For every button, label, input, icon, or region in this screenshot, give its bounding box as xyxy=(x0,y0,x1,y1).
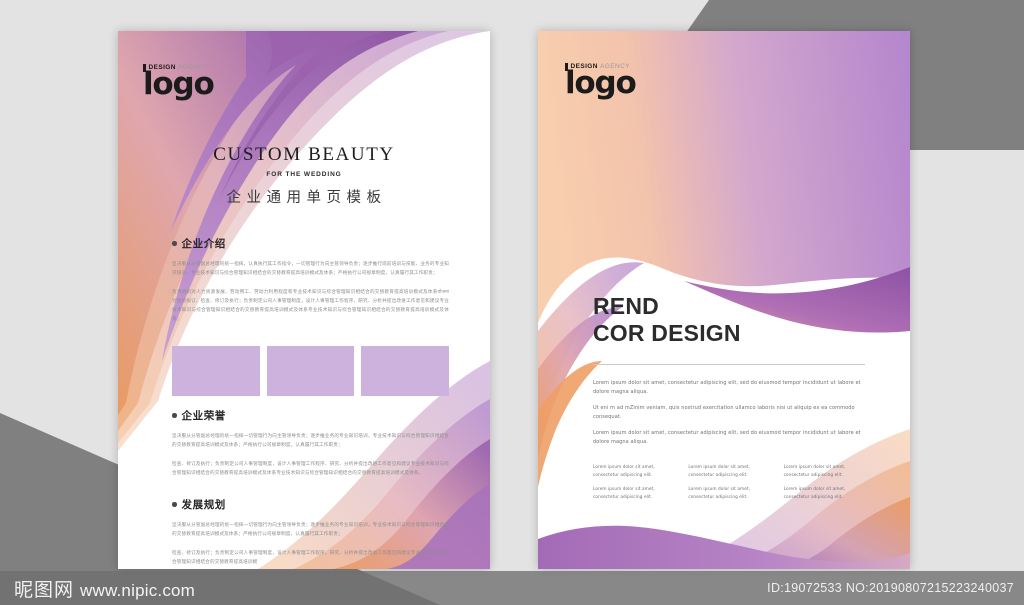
section-company-honors: 企业荣誉 坚决服从分管副总经理的统一指挥一切管理行为向主管领导负责；逐步推业务的… xyxy=(172,408,449,487)
brochure-page-right: DESIGN AGENCY logo REND COR DESIGN Lorem… xyxy=(538,31,910,569)
watermark-site-url: www.nipic.com xyxy=(80,581,195,601)
left-page-content: CUSTOM BEAUTY FOR THE WEDDING 企业通用单页模板 企… xyxy=(118,31,490,569)
section-header: 企业介绍 xyxy=(172,236,449,251)
bullet-dot-icon xyxy=(172,502,177,507)
footer-column-line: Lorem ipsum dolor sit amet, consectetur … xyxy=(784,485,865,500)
logo-wordmark: logo xyxy=(143,70,214,99)
heading-line-1: REND xyxy=(593,293,741,320)
footer-column: Lorem ipsum dolor sit amet, consectetur … xyxy=(784,463,865,507)
section-paragraph: 坚决服从分管副总经理的统一指挥一切管理行为向主管领导负责；逐步推业务的专业知识培… xyxy=(172,521,449,540)
section-title: 发展规划 xyxy=(182,497,226,512)
section-company-intro: 企业介绍 坚决服从分管副总经理的统一指挥，认真执行其工作指令，一切管理行为向主管… xyxy=(172,236,449,334)
body-paragraph: Lorem ipsum dolor sit amet, consectetur … xyxy=(593,429,865,447)
heading-divider xyxy=(593,364,865,365)
section-paragraph: 坚决服从分管副总经理的统一指挥，认真执行其工作指令，一切管理行为向主管领导负责；… xyxy=(172,260,449,279)
footer-column-line: Lorem ipsum dolor sit amet, consectetur … xyxy=(688,485,769,500)
thumbnail-placeholder xyxy=(267,346,355,396)
page-title-english: CUSTOM BEAUTY xyxy=(118,144,490,166)
section-paragraph: 检查、修订及执行；负责制定公司人事管理制度，设计人事管理工作程序、研究、分析并提… xyxy=(172,460,449,479)
right-page-heading: REND COR DESIGN xyxy=(593,293,741,347)
section-paragraph: 检查、修订及执行；负责制定公司人事管理制度，设计人事管理工作程序，研究、分析并提… xyxy=(172,549,449,568)
page-title-chinese: 企业通用单页模板 xyxy=(118,186,490,207)
logo-wordmark: logo xyxy=(565,69,636,98)
body-paragraph: Lorem ipsum dolor sit amet, consectetur … xyxy=(593,379,865,397)
brochure-page-left: DESIGN AGENCY logo CUSTOM BEAUTY FOR THE… xyxy=(118,31,490,569)
section-paragraph: 负责组织对人力资源发展、劳动用工、劳动力利用程度和专业技术知识与综合管理知识相结… xyxy=(172,288,449,325)
watermark-bar: 昵图网 www.nipic.com ID:19072533 NO:2019080… xyxy=(0,571,1024,605)
section-paragraph: 坚决服从分管副总经理的统一指挥一切管理行为向主管领导负责；逐步推业务的专业知识培… xyxy=(172,432,449,451)
section-header: 发展规划 xyxy=(172,497,449,512)
body-paragraph: Ut eni m ad mZinim veniam, quis nostrud … xyxy=(593,404,865,422)
logo-right: DESIGN AGENCY logo xyxy=(565,63,636,98)
right-page-columns: Lorem ipsum dolor sit amet, consectetur … xyxy=(593,463,865,507)
footer-column-line: Lorem ipsum dolor sit amet, consectetur … xyxy=(688,463,769,478)
section-title: 企业荣誉 xyxy=(182,408,226,423)
screenshot-stage: DESIGN AGENCY logo CUSTOM BEAUTY FOR THE… xyxy=(0,0,1024,605)
section-title: 企业介绍 xyxy=(182,236,226,251)
page-subtitle-english: FOR THE WEDDING xyxy=(118,171,490,178)
footer-column-line: Lorem ipsum dolor sit amet, consectetur … xyxy=(593,463,674,478)
section-header: 企业荣誉 xyxy=(172,408,449,423)
section-development-plan: 发展规划 坚决服从分管副总经理的统一指挥一切管理行为向主管领导负责；逐步推业务的… xyxy=(172,497,449,569)
thumbnail-placeholder xyxy=(361,346,449,396)
thumbnail-placeholder xyxy=(172,346,260,396)
right-page-content: REND COR DESIGN Lorem ipsum dolor sit am… xyxy=(538,31,910,569)
thumbnail-row xyxy=(172,346,449,396)
heading-line-2: COR DESIGN xyxy=(593,320,741,347)
watermark-id-text: ID:19072533 NO:20190807215223240037 xyxy=(767,581,1014,595)
watermark-site-name-cn: 昵图网 xyxy=(14,575,74,602)
bullet-dot-icon xyxy=(172,413,177,418)
footer-column: Lorem ipsum dolor sit amet, consectetur … xyxy=(688,463,769,507)
right-page-body: Lorem ipsum dolor sit amet, consectetur … xyxy=(593,379,865,454)
watermark-brand: 昵图网 www.nipic.com xyxy=(0,575,195,602)
footer-column: Lorem ipsum dolor sit amet, consectetur … xyxy=(593,463,674,507)
footer-column-line: Lorem ipsum dolor sit amet, consectetur … xyxy=(593,485,674,500)
logo-left: DESIGN AGENCY logo xyxy=(143,64,214,99)
bullet-dot-icon xyxy=(172,241,177,246)
footer-column-line: Lorem ipsum dolor sit amet, consectetur … xyxy=(784,463,865,478)
